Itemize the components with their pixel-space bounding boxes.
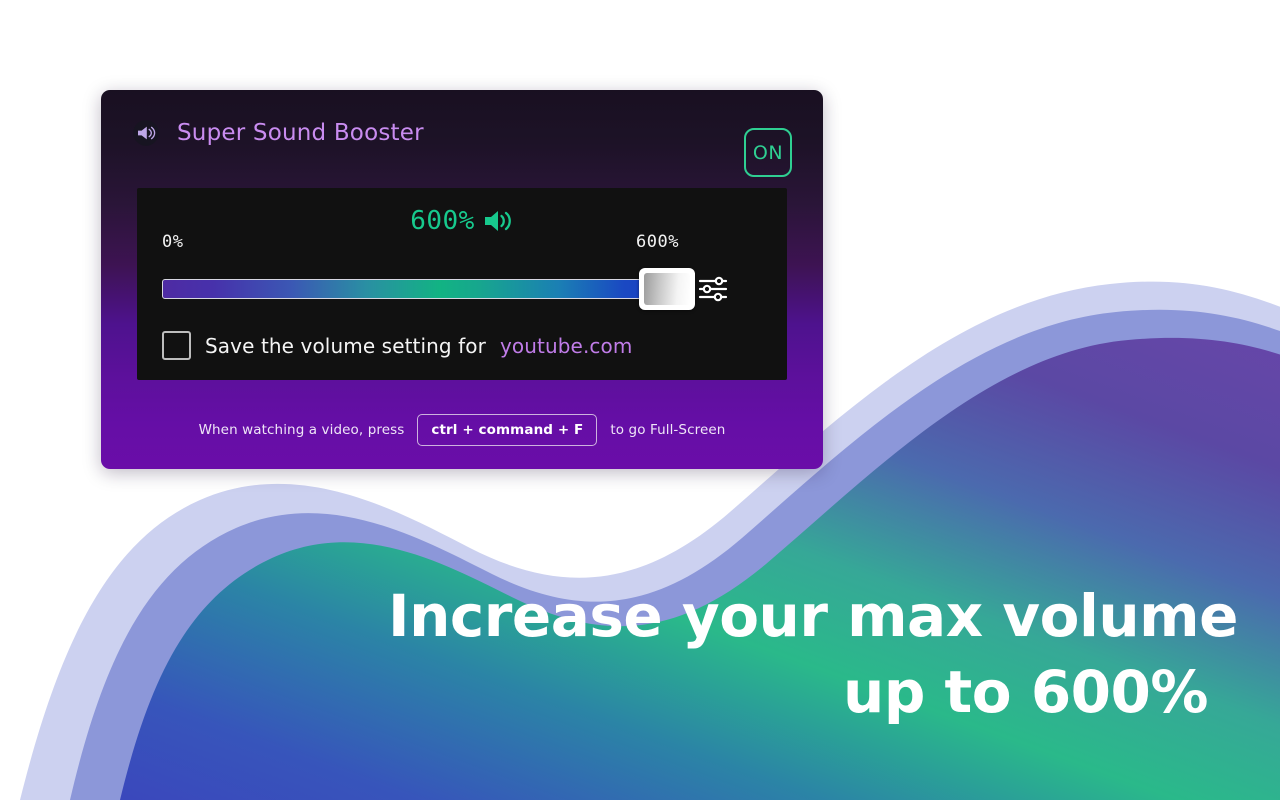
volume-slider-thumb[interactable] <box>639 268 695 310</box>
headline-line-2: up to 600% <box>388 654 1208 730</box>
volume-slider[interactable] <box>162 276 659 302</box>
fullscreen-hint-prefix: When watching a video, press <box>199 422 405 438</box>
save-volume-setting-row[interactable]: Save the volume setting for youtube.com <box>162 331 632 360</box>
sound-booster-logo-icon <box>126 113 166 153</box>
slider-max-label: 600% <box>636 232 679 252</box>
brand: Super Sound Booster <box>126 113 424 153</box>
equalizer-sliders-icon[interactable] <box>694 270 732 308</box>
save-volume-setting-label: Save the volume setting for <box>205 334 486 358</box>
fullscreen-hint-suffix: to go Full-Screen <box>610 422 725 438</box>
extension-popup-panel: Super Sound Booster ON 600% 0% 600% <box>101 90 823 469</box>
save-volume-setting-checkbox[interactable] <box>162 331 191 360</box>
speaker-waves-icon <box>484 207 514 235</box>
panel-header: Super Sound Booster ON <box>101 90 823 188</box>
promo-canvas: Increase your max volume up to 600% <box>0 0 1280 800</box>
power-toggle-button[interactable]: ON <box>744 128 792 177</box>
slider-scale-labels: 0% 600% <box>137 232 787 254</box>
fullscreen-shortcut-key[interactable]: ctrl + command + F <box>417 414 597 446</box>
volume-console: 600% 0% 600% <box>137 188 787 380</box>
headline-line-1: Increase your max volume <box>388 578 1208 654</box>
save-volume-setting-site: youtube.com <box>500 334 632 358</box>
panel-footer: When watching a video, press ctrl + comm… <box>101 390 823 469</box>
slider-min-label: 0% <box>162 232 183 252</box>
slider-row <box>137 264 787 320</box>
promo-headline: Increase your max volume up to 600% <box>388 578 1208 730</box>
volume-slider-thumb-face <box>644 273 690 305</box>
volume-slider-track[interactable] <box>162 279 659 299</box>
panel-title: Super Sound Booster <box>177 120 424 146</box>
